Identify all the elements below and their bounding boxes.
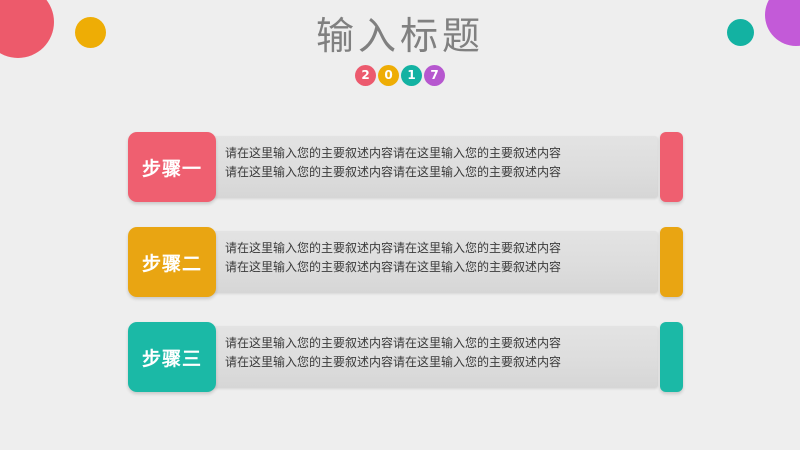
step-row[interactable]: 步骤一 请在这里输入您的主要叙述内容请在这里输入您的主要叙述内容 请在这里输入您… [0, 120, 800, 215]
step-tab-label: 步骤一 [142, 154, 202, 181]
page-title: 输入标题 [0, 0, 800, 58]
step-description-line-2: 请在这里输入您的主要叙述内容请在这里输入您的主要叙述内容 [225, 258, 650, 277]
step-description: 请在这里输入您的主要叙述内容请在这里输入您的主要叙述内容 请在这里输入您的主要叙… [225, 334, 650, 372]
slide-header: 输入标题 2 0 1 7 [0, 0, 800, 86]
year-badge: 2 0 1 7 [0, 65, 800, 86]
year-digit-3: 7 [424, 65, 445, 86]
step-description: 请在这里输入您的主要叙述内容请在这里输入您的主要叙述内容 请在这里输入您的主要叙… [225, 144, 650, 182]
step-description-line-1: 请在这里输入您的主要叙述内容请在这里输入您的主要叙述内容 [225, 334, 650, 353]
step-description-line-2: 请在这里输入您的主要叙述内容请在这里输入您的主要叙述内容 [225, 353, 650, 372]
step-row[interactable]: 步骤二 请在这里输入您的主要叙述内容请在这里输入您的主要叙述内容 请在这里输入您… [0, 215, 800, 310]
step-tab-label: 步骤二 [142, 249, 202, 276]
step-tab-2[interactable]: 步骤二 [128, 227, 216, 297]
step-description-line-2: 请在这里输入您的主要叙述内容请在这里输入您的主要叙述内容 [225, 163, 650, 182]
step-tab-1[interactable]: 步骤一 [128, 132, 216, 202]
step-tab-3[interactable]: 步骤三 [128, 322, 216, 392]
year-digit-0: 2 [355, 65, 376, 86]
step-description-line-1: 请在这里输入您的主要叙述内容请在这里输入您的主要叙述内容 [225, 144, 650, 163]
step-cap-1 [660, 132, 683, 202]
step-description: 请在这里输入您的主要叙述内容请在这里输入您的主要叙述内容 请在这里输入您的主要叙… [225, 239, 650, 277]
year-digit-1: 0 [378, 65, 399, 86]
step-cap-2 [660, 227, 683, 297]
step-tab-label: 步骤三 [142, 344, 202, 371]
step-description-line-1: 请在这里输入您的主要叙述内容请在这里输入您的主要叙述内容 [225, 239, 650, 258]
step-row[interactable]: 步骤三 请在这里输入您的主要叙述内容请在这里输入您的主要叙述内容 请在这里输入您… [0, 310, 800, 405]
year-digit-2: 1 [401, 65, 422, 86]
step-cap-3 [660, 322, 683, 392]
steps-list: 步骤一 请在这里输入您的主要叙述内容请在这里输入您的主要叙述内容 请在这里输入您… [0, 120, 800, 405]
